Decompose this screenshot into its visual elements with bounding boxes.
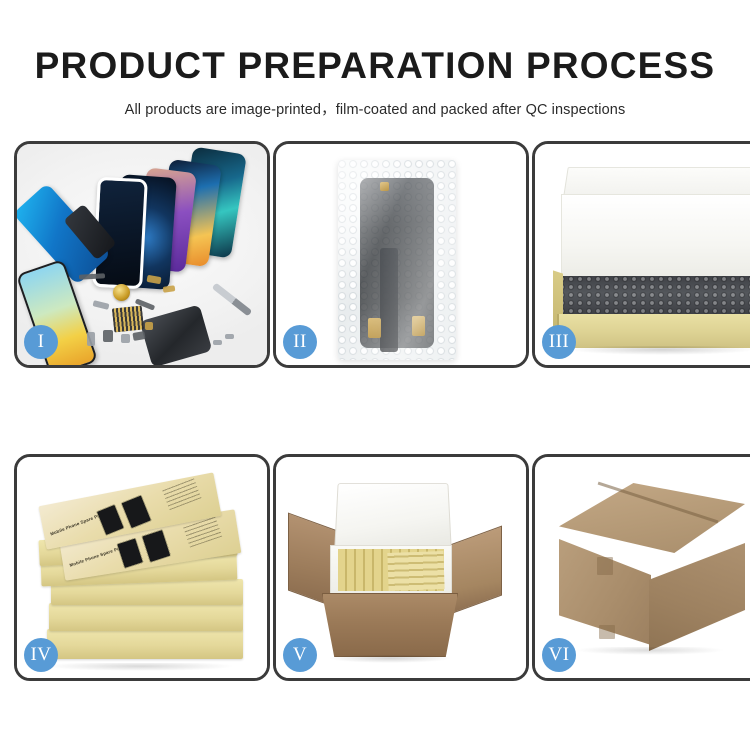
screwdriver-icon bbox=[212, 283, 253, 317]
page-subtitle: All products are image-printed，film-coat… bbox=[0, 98, 750, 119]
box-screen-print bbox=[121, 495, 152, 529]
chip-array-icon bbox=[112, 305, 144, 332]
carton-body bbox=[322, 593, 458, 657]
box-stack: Mobile Phone Spare Parts Mobile Phone Sp… bbox=[31, 479, 259, 669]
step-badge-6: VI bbox=[542, 638, 576, 672]
drop-shadow bbox=[328, 655, 452, 663]
stacked-box bbox=[49, 603, 243, 631]
process-row-2: Mobile Phone Spare Parts Mobile Phone Sp… bbox=[14, 454, 736, 681]
step-badge-1: I bbox=[24, 325, 58, 359]
step-badge-2: II bbox=[283, 325, 317, 359]
drop-shadow bbox=[575, 647, 725, 655]
spare-part bbox=[121, 334, 130, 343]
foam-box-lid bbox=[334, 483, 451, 549]
vibration-motor-icon bbox=[113, 284, 130, 301]
box-front-panel bbox=[557, 314, 750, 348]
step-card-5[interactable]: V bbox=[273, 454, 529, 681]
step-badge-5: V bbox=[283, 638, 317, 672]
bubble-wrapped-units bbox=[559, 276, 750, 318]
carton-flap-right bbox=[450, 526, 502, 615]
bubble-wrap-bag bbox=[338, 160, 456, 360]
process-row-1: I II bbox=[14, 141, 736, 368]
step-badge-4: IV bbox=[24, 638, 58, 672]
carton-right-face bbox=[649, 543, 745, 651]
step-card-1[interactable]: I bbox=[14, 141, 270, 368]
box-spec-lines bbox=[162, 477, 202, 510]
spare-part bbox=[132, 331, 145, 341]
page-header: PRODUCT PREPARATION PROCESS All products… bbox=[0, 0, 750, 119]
spare-part bbox=[93, 300, 110, 310]
box-screen-print bbox=[117, 538, 144, 569]
box-screen-print bbox=[141, 529, 171, 562]
phone-back-cover bbox=[140, 304, 213, 365]
step-card-3[interactable]: III bbox=[532, 141, 750, 368]
spare-part bbox=[163, 285, 176, 293]
spare-part bbox=[213, 340, 222, 345]
spare-part bbox=[145, 322, 153, 330]
packed-boxes bbox=[387, 551, 444, 591]
drop-shadow bbox=[45, 663, 235, 671]
step-card-6[interactable]: VI bbox=[532, 454, 750, 681]
spare-part bbox=[103, 330, 113, 342]
carton-top-face bbox=[559, 483, 745, 553]
step-card-4[interactable]: Mobile Phone Spare Parts Mobile Phone Sp… bbox=[14, 454, 270, 681]
spare-part bbox=[225, 334, 234, 339]
carton-tape-tab bbox=[599, 625, 615, 639]
carton-tape-tab bbox=[597, 557, 613, 575]
box-screen-print bbox=[96, 504, 124, 536]
stacked-box bbox=[47, 629, 243, 659]
foam-sheet bbox=[561, 194, 750, 279]
step-card-2[interactable]: II bbox=[273, 141, 529, 368]
product-preparation-process-page: PRODUCT PREPARATION PROCESS All products… bbox=[0, 0, 750, 750]
spare-part bbox=[87, 332, 95, 346]
page-title: PRODUCT PREPARATION PROCESS bbox=[0, 47, 750, 84]
process-grid: I II bbox=[14, 141, 736, 681]
plastic-sheen bbox=[338, 160, 456, 360]
step-badge-3: III bbox=[542, 325, 576, 359]
drop-shadow bbox=[569, 346, 750, 355]
